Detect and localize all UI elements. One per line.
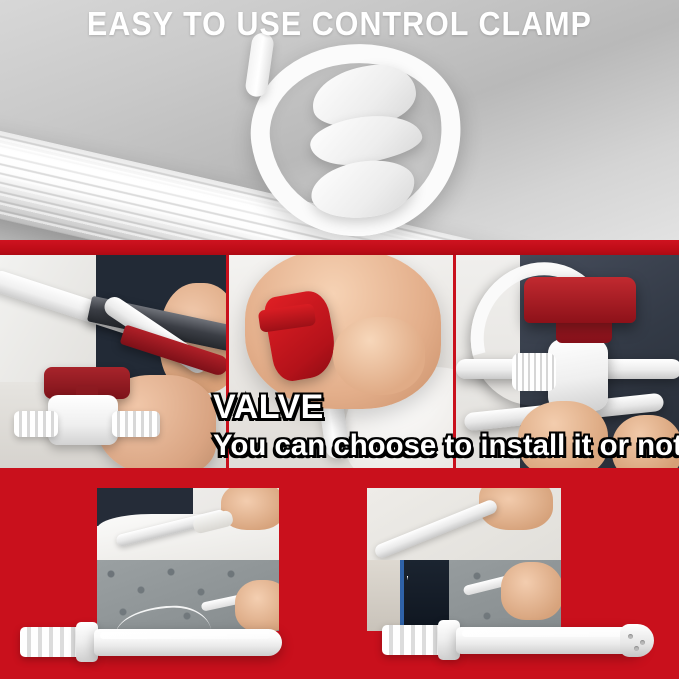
valve-barb-right — [112, 411, 160, 437]
wand-body — [373, 498, 499, 560]
product-tapered-shower-wand — [382, 616, 650, 666]
red-valve-handle — [524, 277, 636, 323]
page-title: EASY TO USE CONTROL CLAMP — [27, 4, 652, 44]
photo-installed-valve — [456, 255, 679, 468]
spray-hole — [634, 646, 639, 651]
photo-wand-spraying — [367, 488, 561, 631]
valve-body — [48, 395, 118, 445]
valve-nut — [512, 353, 556, 391]
shaft-highlight — [462, 630, 632, 637]
red-divider-top — [0, 240, 679, 255]
spray-tip — [620, 624, 654, 657]
product-straight-spray-wand — [20, 618, 290, 666]
red-border-bottom — [0, 673, 679, 679]
bottom-section — [0, 468, 679, 679]
hero-section: EASY TO USE CONTROL CLAMP — [0, 0, 679, 240]
spray-hole — [640, 640, 645, 645]
control-clamp-illustration — [240, 30, 475, 240]
counter-scene — [97, 488, 279, 560]
barb-connector — [382, 625, 442, 655]
product-infographic: EASY TO USE CONTROL CLAMP — [0, 0, 679, 679]
photo-inserting-valve — [229, 255, 453, 468]
middle-photo-strip — [0, 255, 679, 468]
counter-scene — [367, 488, 561, 560]
barb-connector — [20, 627, 80, 657]
finger-left — [518, 401, 608, 468]
photo-cutting-hose — [0, 255, 226, 468]
hand-spraying — [501, 562, 561, 620]
valve-barb-left — [14, 411, 58, 437]
photo-wand-on-counter — [97, 488, 279, 631]
shaft-highlight — [100, 632, 270, 639]
finger-right — [612, 415, 679, 468]
spray-hole — [628, 634, 633, 639]
thumb — [333, 317, 425, 395]
